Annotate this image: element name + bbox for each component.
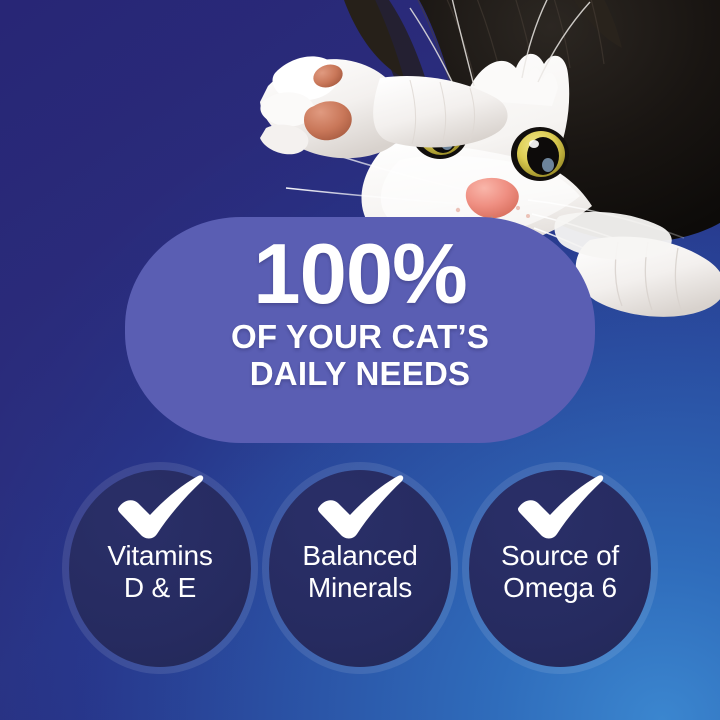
benefit-label-line2: Minerals	[262, 572, 458, 604]
benefit-label: Source of Omega 6	[462, 540, 658, 604]
benefit-label-line2: D & E	[62, 572, 258, 604]
claim-subline-1: OF YOUR CAT’S	[231, 320, 489, 355]
cat-eye-right	[511, 127, 569, 181]
check-icon	[314, 474, 406, 540]
benefit-item-minerals[interactable]: Balanced Minerals	[262, 462, 458, 674]
claim-text-block: 100% OF YOUR CAT’S DAILY NEEDS	[125, 217, 595, 443]
claim-headline: 100%	[253, 233, 466, 316]
benefit-label-line1: Source of	[501, 540, 619, 571]
check-icon	[114, 474, 206, 540]
benefit-label-line1: Balanced	[302, 540, 417, 571]
claim-subline-2: DAILY NEEDS	[250, 357, 470, 392]
benefit-label: Vitamins D & E	[62, 540, 258, 604]
benefit-label-line1: Vitamins	[107, 540, 212, 571]
benefit-item-vitamins[interactable]: Vitamins D & E	[62, 462, 258, 674]
benefit-label: Balanced Minerals	[262, 540, 458, 604]
check-icon	[514, 474, 606, 540]
benefit-label-line2: Omega 6	[462, 572, 658, 604]
benefit-item-omega[interactable]: Source of Omega 6	[462, 462, 658, 674]
benefit-list: Vitamins D & E Balanced Minerals	[0, 462, 720, 677]
promo-banner: 100% OF YOUR CAT’S DAILY NEEDS Vitamins …	[0, 0, 720, 720]
